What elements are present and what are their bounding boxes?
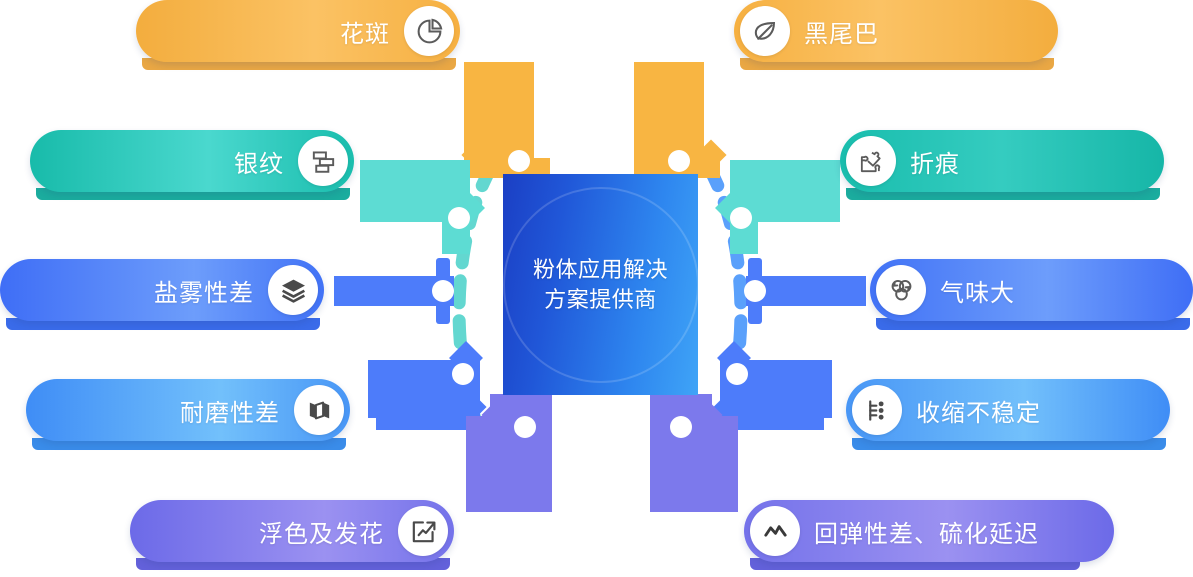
node-label-n6: 气味大 xyxy=(940,273,1015,308)
node-pill-n3[interactable]: 银纹 xyxy=(30,130,354,192)
connector-bar xyxy=(634,62,704,158)
open-book-icon xyxy=(294,385,344,435)
connector-node-dot xyxy=(730,207,752,229)
node-pill-n8[interactable]: 收缩不稳定 xyxy=(846,379,1170,441)
connector-n5 xyxy=(334,276,474,320)
node-label-n5: 盐雾性差 xyxy=(154,273,254,308)
connector-node-dot xyxy=(514,416,536,438)
node-label-n3: 银纹 xyxy=(234,144,284,179)
pie-chart-icon xyxy=(404,6,454,56)
connector-node-dot xyxy=(508,150,530,172)
recycle-icon xyxy=(876,265,926,315)
node-label-n9: 浮色及发花 xyxy=(259,514,384,549)
node-pill-n2[interactable]: 黑尾巴 xyxy=(734,0,1058,62)
line-chart-icon xyxy=(750,506,800,556)
leaf-icon xyxy=(740,6,790,56)
connector-n10 xyxy=(624,394,744,524)
diagram-canvas: 粉体应用解决 方案提供商 花斑 黑尾巴 银纹 xyxy=(0,0,1193,577)
node-pill-n10[interactable]: 回弹性差、硫化延迟 xyxy=(744,500,1114,562)
node-pill-n6[interactable]: 气味大 xyxy=(870,259,1193,321)
connector-node-dot xyxy=(452,363,474,385)
connector-n9 xyxy=(466,394,576,524)
node-pill-n9[interactable]: 浮色及发花 xyxy=(130,500,454,562)
connector-node-dot xyxy=(668,150,690,172)
puzzle-icon xyxy=(846,136,896,186)
node-label-n10: 回弹性差、硫化延迟 xyxy=(814,514,1039,549)
node-label-n4: 折痕 xyxy=(910,144,960,179)
node-label-n8: 收缩不稳定 xyxy=(916,393,1041,428)
node-pill-n1[interactable]: 花斑 xyxy=(136,0,460,62)
connector-n4 xyxy=(700,160,840,260)
trend-box-icon xyxy=(398,506,448,556)
connector-n6 xyxy=(726,276,866,320)
node-pill-n5[interactable]: 盐雾性差 xyxy=(0,259,324,321)
connector-node-dot xyxy=(726,363,748,385)
connector-node-dot xyxy=(448,207,470,229)
connector-n3 xyxy=(360,160,500,260)
center-node[interactable]: 粉体应用解决 方案提供商 xyxy=(503,174,698,395)
node-pill-n7[interactable]: 耐磨性差 xyxy=(26,379,350,441)
connector-node-dot xyxy=(432,280,454,302)
connector-node-dot xyxy=(744,280,766,302)
connector-node-dot xyxy=(670,416,692,438)
sitemap-icon xyxy=(852,385,902,435)
layers-icon xyxy=(268,265,318,315)
node-label-n2: 黑尾巴 xyxy=(804,14,879,49)
center-label: 粉体应用解决 方案提供商 xyxy=(533,255,668,314)
node-label-n7: 耐磨性差 xyxy=(180,393,280,428)
node-pill-n4[interactable]: 折痕 xyxy=(840,130,1164,192)
node-label-n1: 花斑 xyxy=(340,14,390,49)
bricks-icon xyxy=(298,136,348,186)
